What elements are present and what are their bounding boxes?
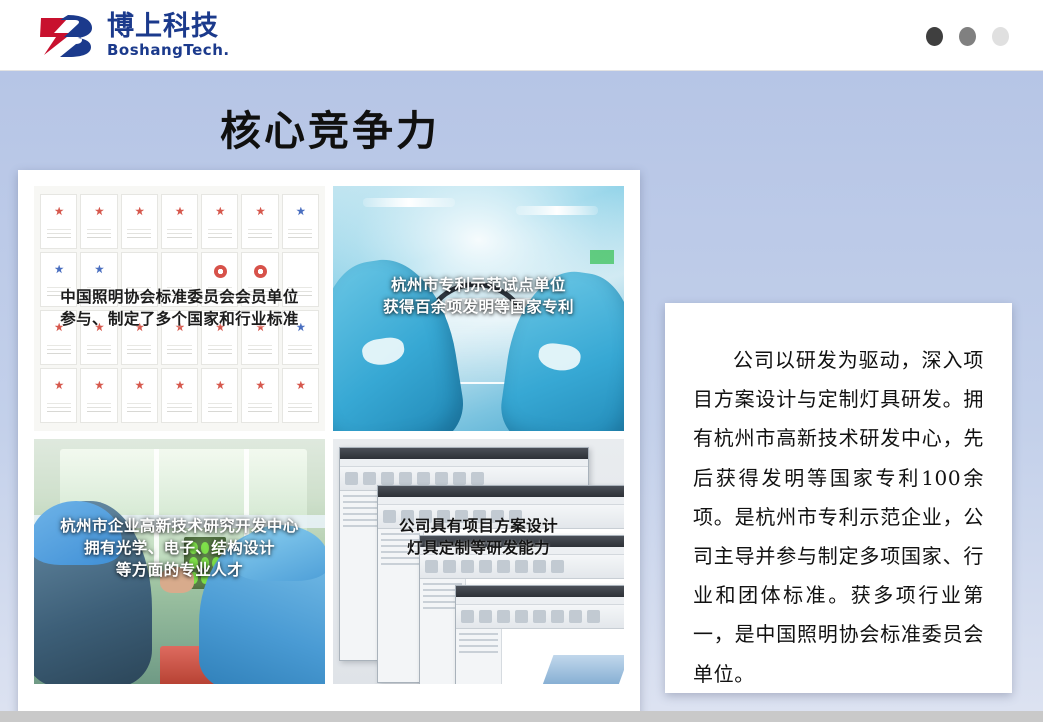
tile-cleanroom[interactable]: 杭州市专利示范试点单位 获得百余项发明等国家专利 xyxy=(333,186,624,431)
boshang-b-logo-icon xyxy=(38,11,100,59)
pagination-dots[interactable] xyxy=(926,27,1009,46)
caption-line: 公司具有项目方案设计 xyxy=(333,515,624,537)
slide-canvas: 核心竞争力 中国照明协会标准委员会会员单位 参与、制定了多个国家和行业标准 xyxy=(0,71,1043,711)
collage-grid: 中国照明协会标准委员会会员单位 参与、制定了多个国家和行业标准 杭州市专利示范试… xyxy=(34,186,624,722)
tile-cleanroom-caption: 杭州市专利示范试点单位 获得百余项发明等国家专利 xyxy=(333,274,624,318)
description-card: 公司以研发为驱动，深入项目方案设计与定制灯具研发。拥有杭州市高新技术研发中心，先… xyxy=(665,303,1012,693)
brand-logo[interactable]: 博上科技 BoshangTech. xyxy=(38,11,230,59)
ceiling-light xyxy=(363,198,455,207)
caption-line: 中国照明协会标准委员会会员单位 xyxy=(34,286,325,308)
caption-line: 参与、制定了多个国家和行业标准 xyxy=(34,308,325,330)
brand-name-en: BoshangTech. xyxy=(107,43,230,58)
app-header: 博上科技 BoshangTech. xyxy=(0,0,1043,71)
tile-certificates[interactable]: 中国照明协会标准委员会会员单位 参与、制定了多个国家和行业标准 xyxy=(34,186,325,431)
status-panel xyxy=(590,250,614,264)
pagination-dot-3[interactable] xyxy=(992,27,1009,46)
image-collage-panel: 中国照明协会标准委员会会员单位 参与、制定了多个国家和行业标准 杭州市专利示范试… xyxy=(18,170,640,722)
cad-window xyxy=(455,585,624,684)
brand-name-cn: 博上科技 xyxy=(107,13,230,40)
tile-certificates-caption: 中国照明协会标准委员会会员单位 参与、制定了多个国家和行业标准 xyxy=(34,286,325,330)
tile-research-lab-caption: 杭州市企业高新技术研究开发中心 拥有光学、电子、结构设计 等方面的专业人才 xyxy=(34,515,325,581)
tile-cad-design-caption: 公司具有项目方案设计 灯具定制等研发能力 xyxy=(333,515,624,559)
caption-line: 杭州市企业高新技术研究开发中心 xyxy=(34,515,325,537)
description-paragraph: 公司以研发为驱动，深入项目方案设计与定制灯具研发。拥有杭州市高新技术研发中心，先… xyxy=(693,341,984,694)
bottom-strip xyxy=(0,711,1043,722)
caption-line: 获得百余项发明等国家专利 xyxy=(333,296,624,318)
caption-line: 等方面的专业人才 xyxy=(34,559,325,581)
pagination-dot-2[interactable] xyxy=(959,27,976,46)
caption-line: 拥有光学、电子、结构设计 xyxy=(34,537,325,559)
ceiling-light xyxy=(516,206,598,215)
caption-line: 杭州市专利示范试点单位 xyxy=(333,274,624,296)
pagination-dot-1[interactable] xyxy=(926,27,943,46)
tile-research-lab[interactable]: 杭州市企业高新技术研究开发中心 拥有光学、电子、结构设计 等方面的专业人才 xyxy=(34,439,325,684)
page-title: 核心竞争力 xyxy=(0,97,660,157)
caption-line: 灯具定制等研发能力 xyxy=(333,537,624,559)
tile-cad-design[interactable]: 公司具有项目方案设计 灯具定制等研发能力 xyxy=(333,439,624,684)
